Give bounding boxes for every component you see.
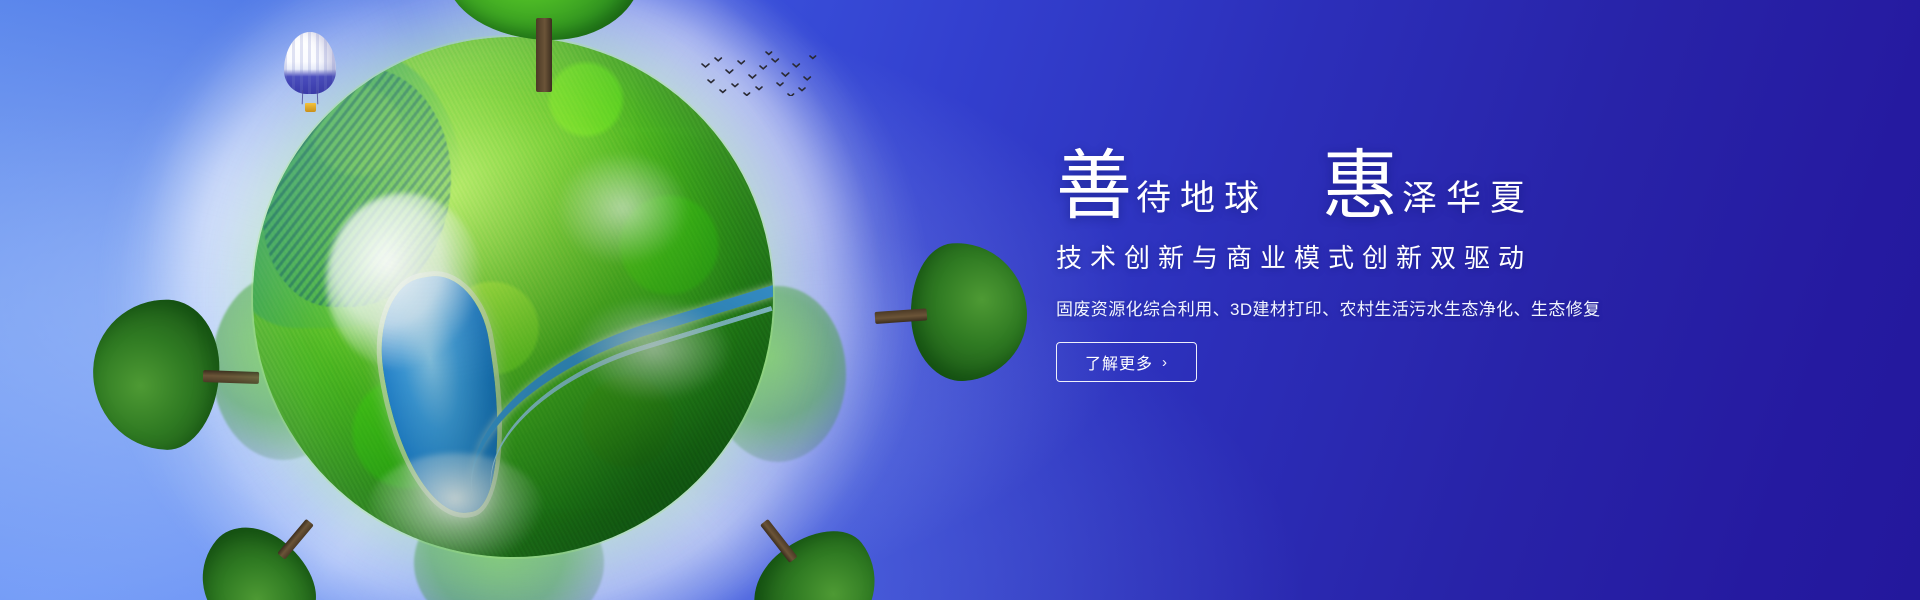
headline-rest-2: 泽华夏 [1402,181,1534,224]
description: 固废资源化综合利用、3D建材打印、农村生活污水生态净化、生态修复 [1056,295,1756,320]
banner-content: 善 待地球 惠 泽华夏 技术创新与商业模式创新双驱动 固废资源化综合利用、3D建… [1056,132,1756,382]
tree-top-icon [446,0,642,92]
globe-artwork [62,0,964,600]
headline-rest-1: 待地球 [1136,181,1268,224]
learn-more-button[interactable]: 了解更多 › [1056,342,1197,382]
hero-banner: 善 待地球 惠 泽华夏 技术创新与商业模式创新双驱动 固废资源化综合利用、3D建… [0,0,1920,600]
tree-left-icon [90,297,261,453]
learn-more-label: 了解更多 [1085,350,1153,374]
hot-air-balloon-icon [284,32,342,118]
subtitle: 技术创新与商业模式创新双驱动 [1056,238,1756,275]
tree-right-icon [870,239,1031,387]
birds-flock-icon [698,50,818,96]
headline: 善 待地球 惠 泽华夏 [1056,132,1756,224]
headline-lead-char-2: 惠 [1322,151,1398,224]
chevron-right-icon: › [1162,355,1168,370]
headline-lead-char-1: 善 [1056,151,1132,224]
